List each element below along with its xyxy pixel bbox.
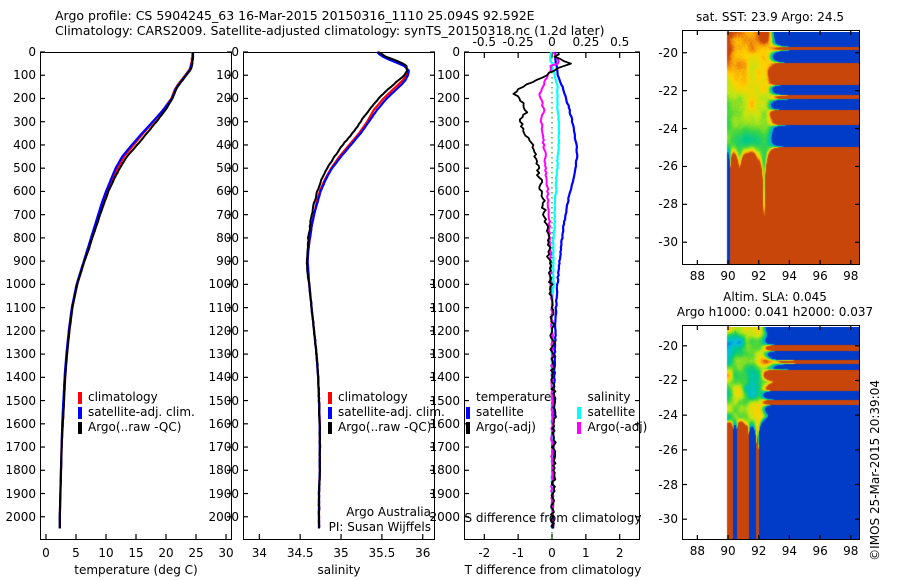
legend-swatch bbox=[577, 407, 581, 419]
depth-tick-label: 2000 bbox=[2, 510, 36, 524]
sst-map-title: sat. SST: 23.9 Argo: 24.5 bbox=[670, 10, 870, 25]
salinity-annotation-line-1: Argo Australia bbox=[235, 505, 431, 520]
legend-swatch bbox=[78, 422, 82, 434]
x-tick-label: 35.5 bbox=[369, 546, 396, 560]
legend-swatch bbox=[328, 407, 332, 419]
legend-group: temperaturesatelliteArgo(-adj) bbox=[466, 390, 551, 435]
sla-map-lat-tick: -20 bbox=[648, 339, 678, 353]
depth-tick-label: 2000 bbox=[205, 510, 239, 524]
legend-swatch bbox=[577, 422, 581, 434]
title-line-1: Argo profile: CS 5904245_63 16-Mar-2015 … bbox=[55, 8, 675, 23]
sst-map-lat-tick: -30 bbox=[648, 235, 678, 249]
depth-tick-label: 0 bbox=[2, 45, 36, 59]
salinity-annotation: Argo AustraliaPI: Susan Wijffels bbox=[235, 505, 431, 535]
depth-tick-label: 300 bbox=[426, 115, 460, 129]
sst-map-lat-tick: -24 bbox=[648, 122, 678, 136]
sla-map-lon-tick: 92 bbox=[751, 544, 766, 558]
salinity-annotation-line-2: PI: Susan Wijffels bbox=[235, 520, 431, 535]
depth-tick-label: 1500 bbox=[2, 394, 36, 408]
x-tick-label: 34 bbox=[252, 546, 267, 560]
sst-map-lon-tick: 96 bbox=[812, 269, 827, 283]
depth-tick-label: 1700 bbox=[426, 440, 460, 454]
x-tick-label-top: 0.5 bbox=[610, 35, 629, 49]
x-tick-label: 1 bbox=[582, 546, 590, 560]
x-tick-label: 10 bbox=[98, 546, 113, 560]
depth-tick-label: 1000 bbox=[205, 277, 239, 291]
depth-tick-label: 1800 bbox=[205, 463, 239, 477]
x-tick-label: 35 bbox=[333, 546, 348, 560]
legend-item: satellite bbox=[577, 405, 647, 420]
legend-swatch bbox=[328, 422, 332, 434]
sla-map-lon-tick: 90 bbox=[720, 544, 735, 558]
depth-tick-label: 400 bbox=[426, 138, 460, 152]
depth-tick-label: 400 bbox=[2, 138, 36, 152]
legend-label: Argo(..raw -QC) bbox=[338, 420, 431, 435]
sla-map-lat-tick: -24 bbox=[648, 408, 678, 422]
legend-group-title: salinity bbox=[587, 390, 647, 405]
legend-item: Argo(..raw -QC) bbox=[78, 420, 195, 435]
sla-map-lon-tick: 94 bbox=[782, 544, 797, 558]
sst-map-lat-tick: -22 bbox=[648, 84, 678, 98]
depth-tick-label: 200 bbox=[2, 91, 36, 105]
depth-tick-label: 100 bbox=[205, 68, 239, 82]
depth-tick-label: 600 bbox=[2, 184, 36, 198]
legend-swatch bbox=[328, 392, 332, 404]
x-tick-label: 30 bbox=[218, 546, 233, 560]
t-difference-axis-label: T difference from climatology bbox=[458, 563, 648, 577]
depth-tick-label: 0 bbox=[205, 45, 239, 59]
depth-tick-label: 1200 bbox=[426, 324, 460, 338]
depth-tick-label: 900 bbox=[2, 254, 36, 268]
depth-tick-label: 1900 bbox=[205, 487, 239, 501]
depth-tick-label: 1700 bbox=[205, 440, 239, 454]
depth-tick-label: 600 bbox=[205, 184, 239, 198]
sla-map-axes bbox=[682, 325, 860, 540]
depth-tick-label: 1000 bbox=[2, 277, 36, 291]
depth-tick-label: 1800 bbox=[426, 463, 460, 477]
x-tick-label: 34.5 bbox=[287, 546, 314, 560]
depth-tick-label: 100 bbox=[2, 68, 36, 82]
x-tick-label: 15 bbox=[128, 546, 143, 560]
legend-swatch bbox=[78, 407, 82, 419]
depth-tick-label: 700 bbox=[426, 208, 460, 222]
depth-tick-label: 1300 bbox=[205, 347, 239, 361]
depth-tick-label: 900 bbox=[205, 254, 239, 268]
legend-label: satellite bbox=[476, 405, 524, 420]
depth-tick-label: 0 bbox=[426, 45, 460, 59]
difference-profile-plot bbox=[464, 52, 640, 540]
x-tick-label: 25 bbox=[188, 546, 203, 560]
salinity-axis-label: salinity bbox=[243, 563, 435, 577]
depth-tick-label: 1100 bbox=[426, 301, 460, 315]
legend-item: satellite bbox=[466, 405, 551, 420]
depth-tick-label: 400 bbox=[205, 138, 239, 152]
sst-map-axes bbox=[682, 30, 860, 265]
depth-tick-label: 100 bbox=[426, 68, 460, 82]
sst-map-lon-tick: 98 bbox=[843, 269, 858, 283]
sla-map-lat-tick: -30 bbox=[648, 512, 678, 526]
depth-tick-label: 700 bbox=[2, 208, 36, 222]
depth-tick-label: 1300 bbox=[2, 347, 36, 361]
depth-tick-label: 300 bbox=[2, 115, 36, 129]
sla-map-lon-tick: 88 bbox=[690, 544, 705, 558]
s-difference-axis-label: S difference from climatology bbox=[458, 511, 648, 525]
depth-tick-label: 1600 bbox=[2, 417, 36, 431]
sst-map-lon-tick: 94 bbox=[782, 269, 797, 283]
sst-map-lat-tick: -26 bbox=[648, 159, 678, 173]
depth-tick-label: 800 bbox=[426, 231, 460, 245]
depth-tick-label: 800 bbox=[2, 231, 36, 245]
depth-tick-label: 1400 bbox=[2, 370, 36, 384]
sla-map-lat-tick: -28 bbox=[648, 478, 678, 492]
depth-tick-label: 2000 bbox=[426, 510, 460, 524]
sst-map-lon-tick: 90 bbox=[720, 269, 735, 283]
legend-item: Argo(-adj) bbox=[466, 420, 551, 435]
depth-tick-label: 1000 bbox=[426, 277, 460, 291]
x-tick-label: 2 bbox=[616, 546, 624, 560]
page-title: Argo profile: CS 5904245_63 16-Mar-2015 … bbox=[55, 8, 675, 38]
depth-tick-label: 1500 bbox=[426, 394, 460, 408]
depth-tick-label: 1400 bbox=[426, 370, 460, 384]
x-tick-label: 36 bbox=[415, 546, 430, 560]
x-tick-label: 5 bbox=[72, 546, 80, 560]
depth-tick-label: 1900 bbox=[426, 487, 460, 501]
depth-tick-label: 1500 bbox=[205, 394, 239, 408]
depth-tick-label: 1400 bbox=[205, 370, 239, 384]
x-tick-label: -1 bbox=[512, 546, 524, 560]
depth-tick-label: 700 bbox=[205, 208, 239, 222]
depth-tick-label: 600 bbox=[426, 184, 460, 198]
depth-tick-label: 1100 bbox=[2, 301, 36, 315]
temperature-legend: climatologysatellite-adj. clim.Argo(..ra… bbox=[78, 390, 195, 435]
sla-map-lon-tick: 98 bbox=[843, 544, 858, 558]
sst-map-lat-tick: -28 bbox=[648, 197, 678, 211]
depth-tick-label: 1300 bbox=[426, 347, 460, 361]
depth-tick-label: 300 bbox=[205, 115, 239, 129]
legend-label: climatology bbox=[338, 390, 408, 405]
legend-swatch bbox=[466, 422, 470, 434]
temperature-axis-label: temperature (deg C) bbox=[40, 563, 232, 577]
legend-label: Argo(-adj) bbox=[476, 420, 536, 435]
sst-map-lon-tick: 92 bbox=[751, 269, 766, 283]
imos-credit: ©IMOS 25-Mar-2015 20:39:04 bbox=[868, 380, 882, 561]
legend-label: satellite bbox=[587, 405, 635, 420]
sla-map-lat-tick: -22 bbox=[648, 373, 678, 387]
depth-tick-label: 1600 bbox=[205, 417, 239, 431]
depth-tick-label: 1600 bbox=[426, 417, 460, 431]
sla-map-lat-tick: -26 bbox=[648, 443, 678, 457]
sla-map-title: Altim. SLA: 0.045Argo h1000: 0.041 h2000… bbox=[670, 290, 880, 320]
legend-item: satellite-adj. clim. bbox=[78, 405, 195, 420]
legend-label: satellite-adj. clim. bbox=[88, 405, 195, 420]
depth-tick-label: 1200 bbox=[2, 324, 36, 338]
sla-map-title-line-1: Altim. SLA: 0.045 bbox=[670, 290, 880, 305]
legend-swatch bbox=[78, 392, 82, 404]
x-tick-label: 20 bbox=[158, 546, 173, 560]
legend-label: Argo(..raw -QC) bbox=[88, 420, 181, 435]
depth-tick-label: 500 bbox=[205, 161, 239, 175]
x-tick-label-top: 0 bbox=[548, 35, 556, 49]
temperature-profile-plot bbox=[40, 52, 232, 540]
sla-map-lon-tick: 96 bbox=[812, 544, 827, 558]
salinity-profile-plot bbox=[243, 52, 435, 540]
depth-tick-label: 900 bbox=[426, 254, 460, 268]
legend-group: salinitysatelliteArgo(-adj) bbox=[577, 390, 647, 435]
depth-tick-label: 1900 bbox=[2, 487, 36, 501]
x-tick-label: -2 bbox=[478, 546, 490, 560]
x-tick-label: 0 bbox=[42, 546, 50, 560]
difference-legend: temperaturesatelliteArgo(-adj)salinitysa… bbox=[466, 390, 647, 435]
depth-tick-label: 1100 bbox=[205, 301, 239, 315]
depth-tick-label: 1200 bbox=[205, 324, 239, 338]
sst-map-lat-tick: -20 bbox=[648, 46, 678, 60]
legend-label: Argo(-adj) bbox=[587, 420, 647, 435]
x-tick-label-top: -0.25 bbox=[503, 35, 534, 49]
depth-tick-label: 1800 bbox=[2, 463, 36, 477]
x-tick-label-top: 0.25 bbox=[572, 35, 599, 49]
legend-item: Argo(-adj) bbox=[577, 420, 647, 435]
depth-tick-label: 500 bbox=[2, 161, 36, 175]
sla-map-title-line-2: Argo h1000: 0.041 h2000: 0.037 bbox=[670, 305, 880, 320]
x-tick-label: 0 bbox=[548, 546, 556, 560]
depth-tick-label: 200 bbox=[205, 91, 239, 105]
legend-label: climatology bbox=[88, 390, 158, 405]
depth-tick-label: 500 bbox=[426, 161, 460, 175]
depth-tick-label: 200 bbox=[426, 91, 460, 105]
legend-swatch bbox=[466, 407, 470, 419]
legend-item: climatology bbox=[78, 390, 195, 405]
x-tick-label-top: -0.5 bbox=[473, 35, 496, 49]
sst-map-lon-tick: 88 bbox=[690, 269, 705, 283]
depth-tick-label: 800 bbox=[205, 231, 239, 245]
depth-tick-label: 1700 bbox=[2, 440, 36, 454]
legend-group-title: temperature bbox=[476, 390, 551, 405]
